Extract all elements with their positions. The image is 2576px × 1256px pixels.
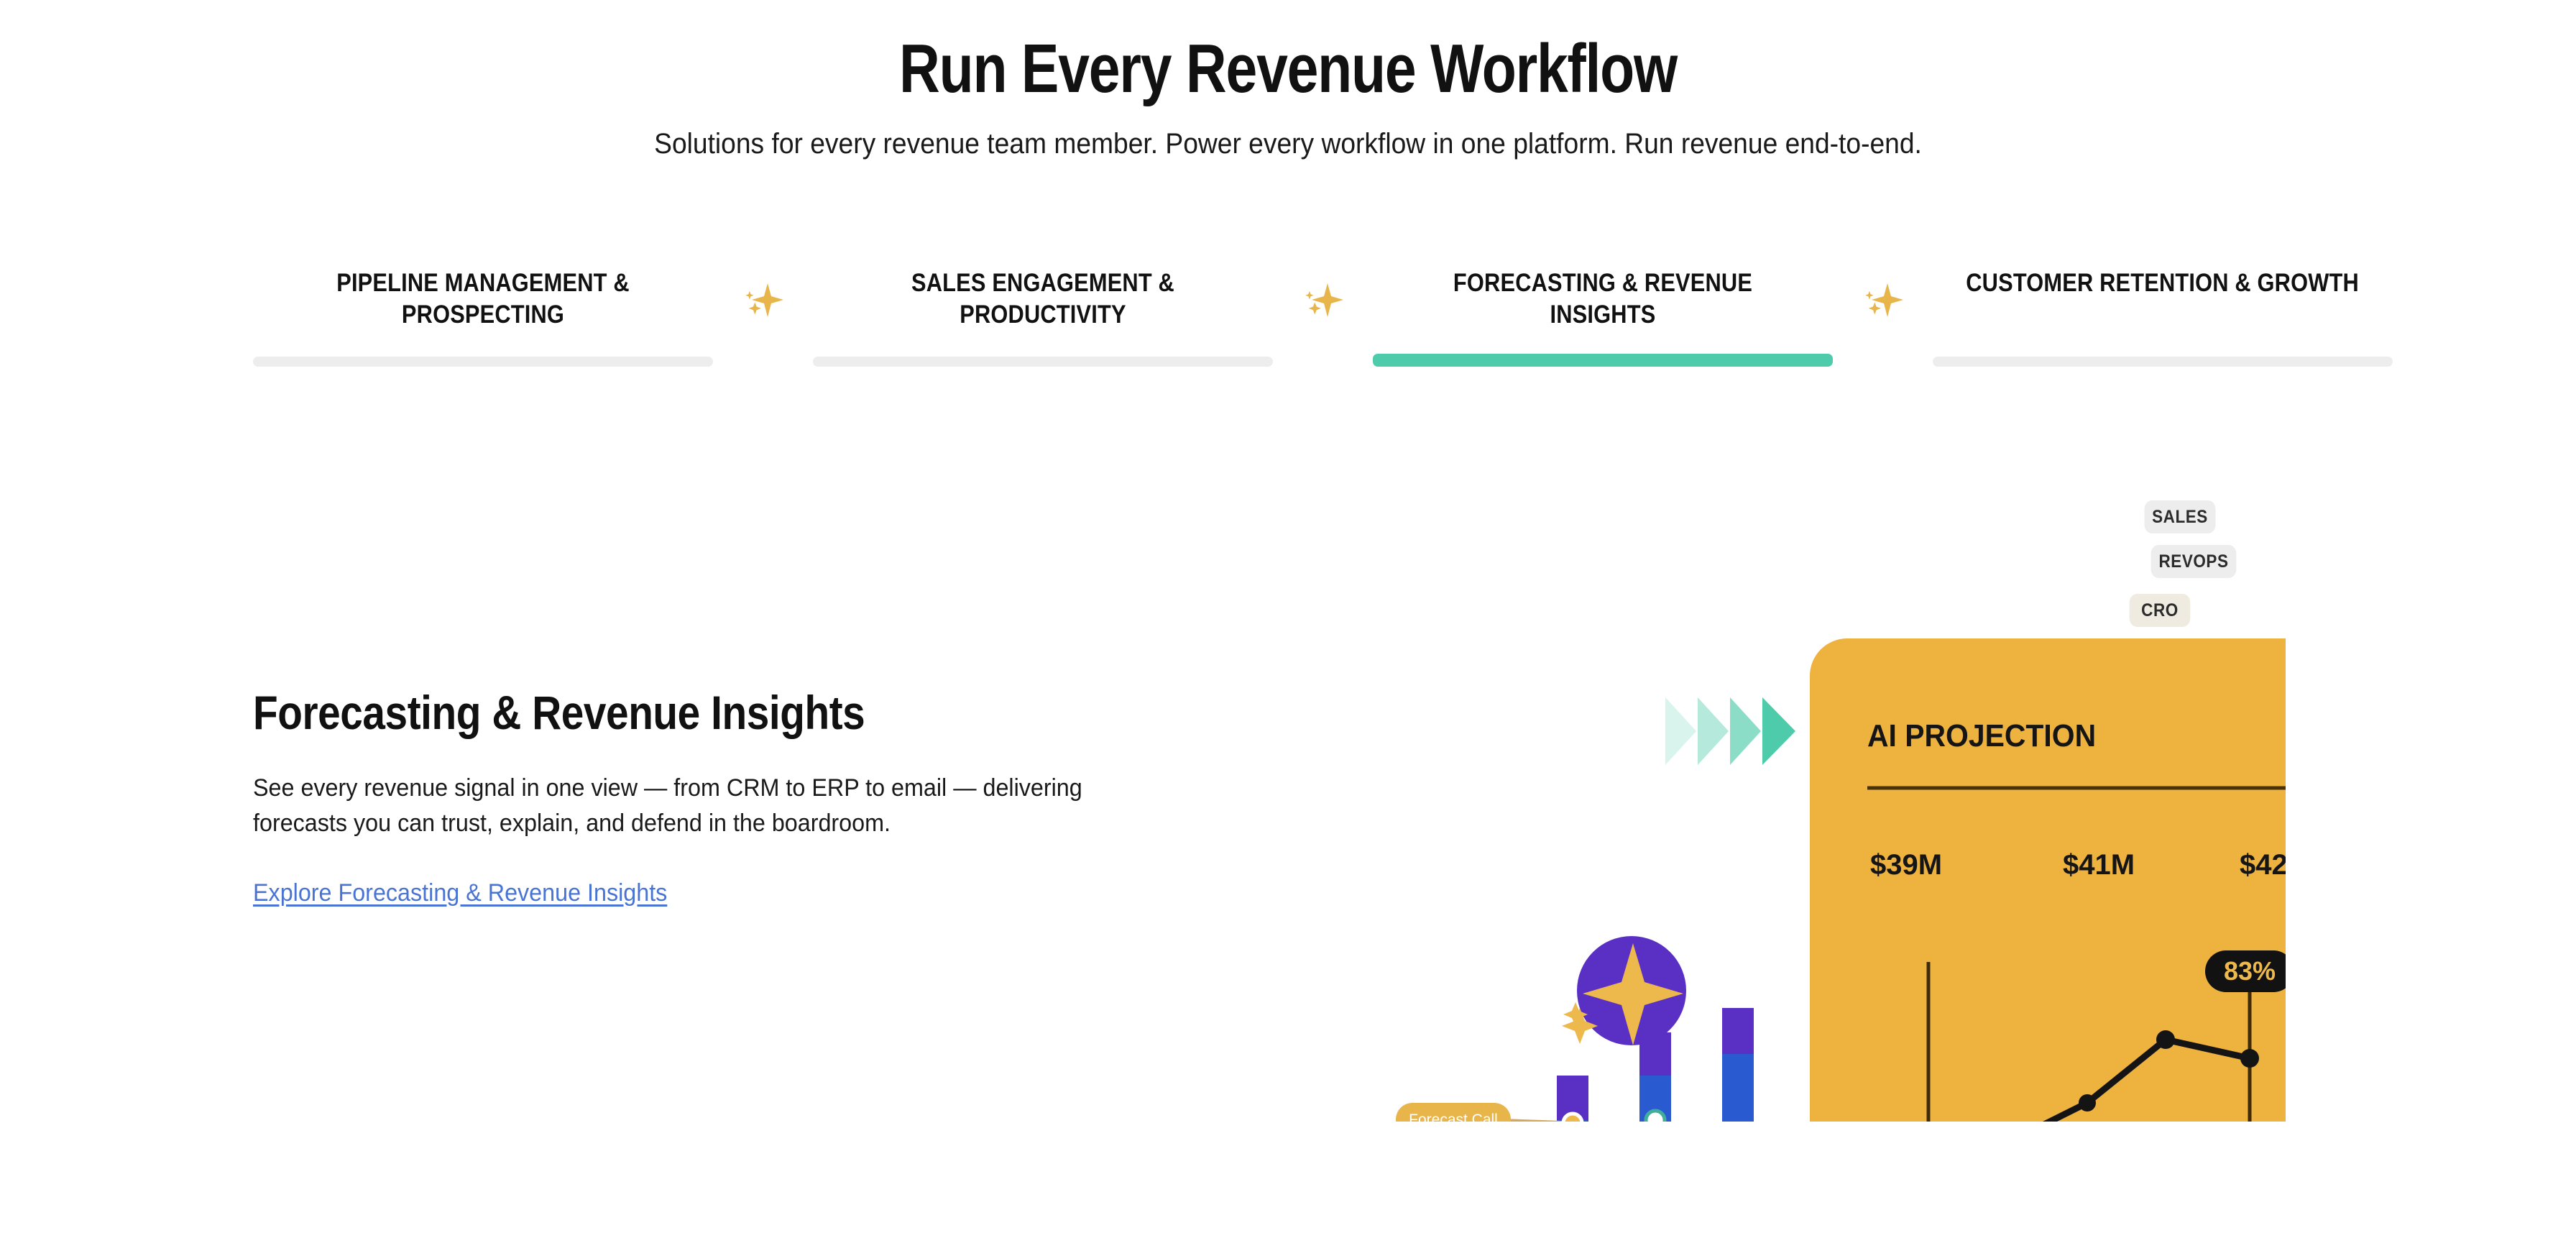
role-tag-sales: SALES xyxy=(2145,500,2216,533)
tab-underline-active xyxy=(1373,354,1833,367)
tab-customer-retention[interactable]: CUSTOMER RETENTION & GROWTH xyxy=(1933,267,2393,367)
ai-sparkle-badge xyxy=(1562,936,1686,1045)
tab-sales-engagement[interactable]: SALES ENGAGEMENT & PRODUCTIVITY xyxy=(813,267,1273,367)
card-title: AI PROJECTION xyxy=(1867,719,2096,754)
confidence-badge: 83% xyxy=(2205,950,2286,992)
legend-forecast-call: Forecast Call xyxy=(1396,1103,1511,1122)
tab-underline xyxy=(1933,357,2393,367)
sparkle-icon xyxy=(740,278,786,324)
solution-tabs: PIPELINE MANAGEMENT & PROSPECTING SALES … xyxy=(253,267,2329,367)
hero-section: Run Every Revenue Workflow Solutions for… xyxy=(0,0,2576,162)
svg-text:$39M: $39M xyxy=(1870,849,1942,881)
page-subtitle: Solutions for every revenue team member.… xyxy=(90,104,2485,162)
page-title: Run Every Revenue Workflow xyxy=(232,0,2345,104)
svg-text:$42.3M: $42.3M xyxy=(2240,849,2286,881)
tab-separator-3 xyxy=(1833,267,1933,324)
tab-separator-2 xyxy=(1273,267,1373,324)
tab-underline xyxy=(813,357,1273,367)
forecasting-illustration: Forecast Call AI Projection Quota AI PRO… xyxy=(1351,475,2286,1122)
svg-text:$41M: $41M xyxy=(2063,849,2135,881)
svg-text:Forecast Call: Forecast Call xyxy=(1409,1111,1498,1122)
tab-label: SALES ENGAGEMENT & PRODUCTIVITY xyxy=(840,267,1245,331)
ai-projection-card: AI PROJECTION $39M $41M $42.3M xyxy=(1810,638,2286,1122)
tab-label: CUSTOMER RETENTION & GROWTH xyxy=(1966,267,2360,331)
tab-label: FORECASTING & REVENUE INSIGHTS xyxy=(1400,267,1805,331)
landing-page: Run Every Revenue Workflow Solutions for… xyxy=(0,0,2576,1256)
tab-pipeline-management[interactable]: PIPELINE MANAGEMENT & PROSPECTING xyxy=(253,267,713,367)
sparkle-icon xyxy=(1860,278,1906,324)
chevron-arrows-icon xyxy=(1665,697,1795,765)
tab-label: PIPELINE MANAGEMENT & PROSPECTING xyxy=(280,267,685,331)
panel-body: See every revenue signal in one view — f… xyxy=(253,739,1131,842)
svg-text:83%: 83% xyxy=(2224,956,2276,986)
panel-heading: Forecasting & Revenue Insights xyxy=(253,687,1057,739)
tab-separator-1 xyxy=(713,267,813,324)
line-markers xyxy=(1563,1111,1747,1122)
tab-underline xyxy=(253,357,713,367)
tab-forecasting-revenue-insights[interactable]: FORECASTING & REVENUE INSIGHTS xyxy=(1373,267,1833,367)
explore-link[interactable]: Explore Forecasting & Revenue Insights xyxy=(253,879,667,907)
role-tag-revops: REVOPS xyxy=(2151,545,2237,578)
role-tag-cro: CRO xyxy=(2130,594,2191,627)
panel-copy: Forecasting & Revenue Insights See every… xyxy=(253,687,1187,907)
sparkle-icon xyxy=(1300,278,1346,324)
